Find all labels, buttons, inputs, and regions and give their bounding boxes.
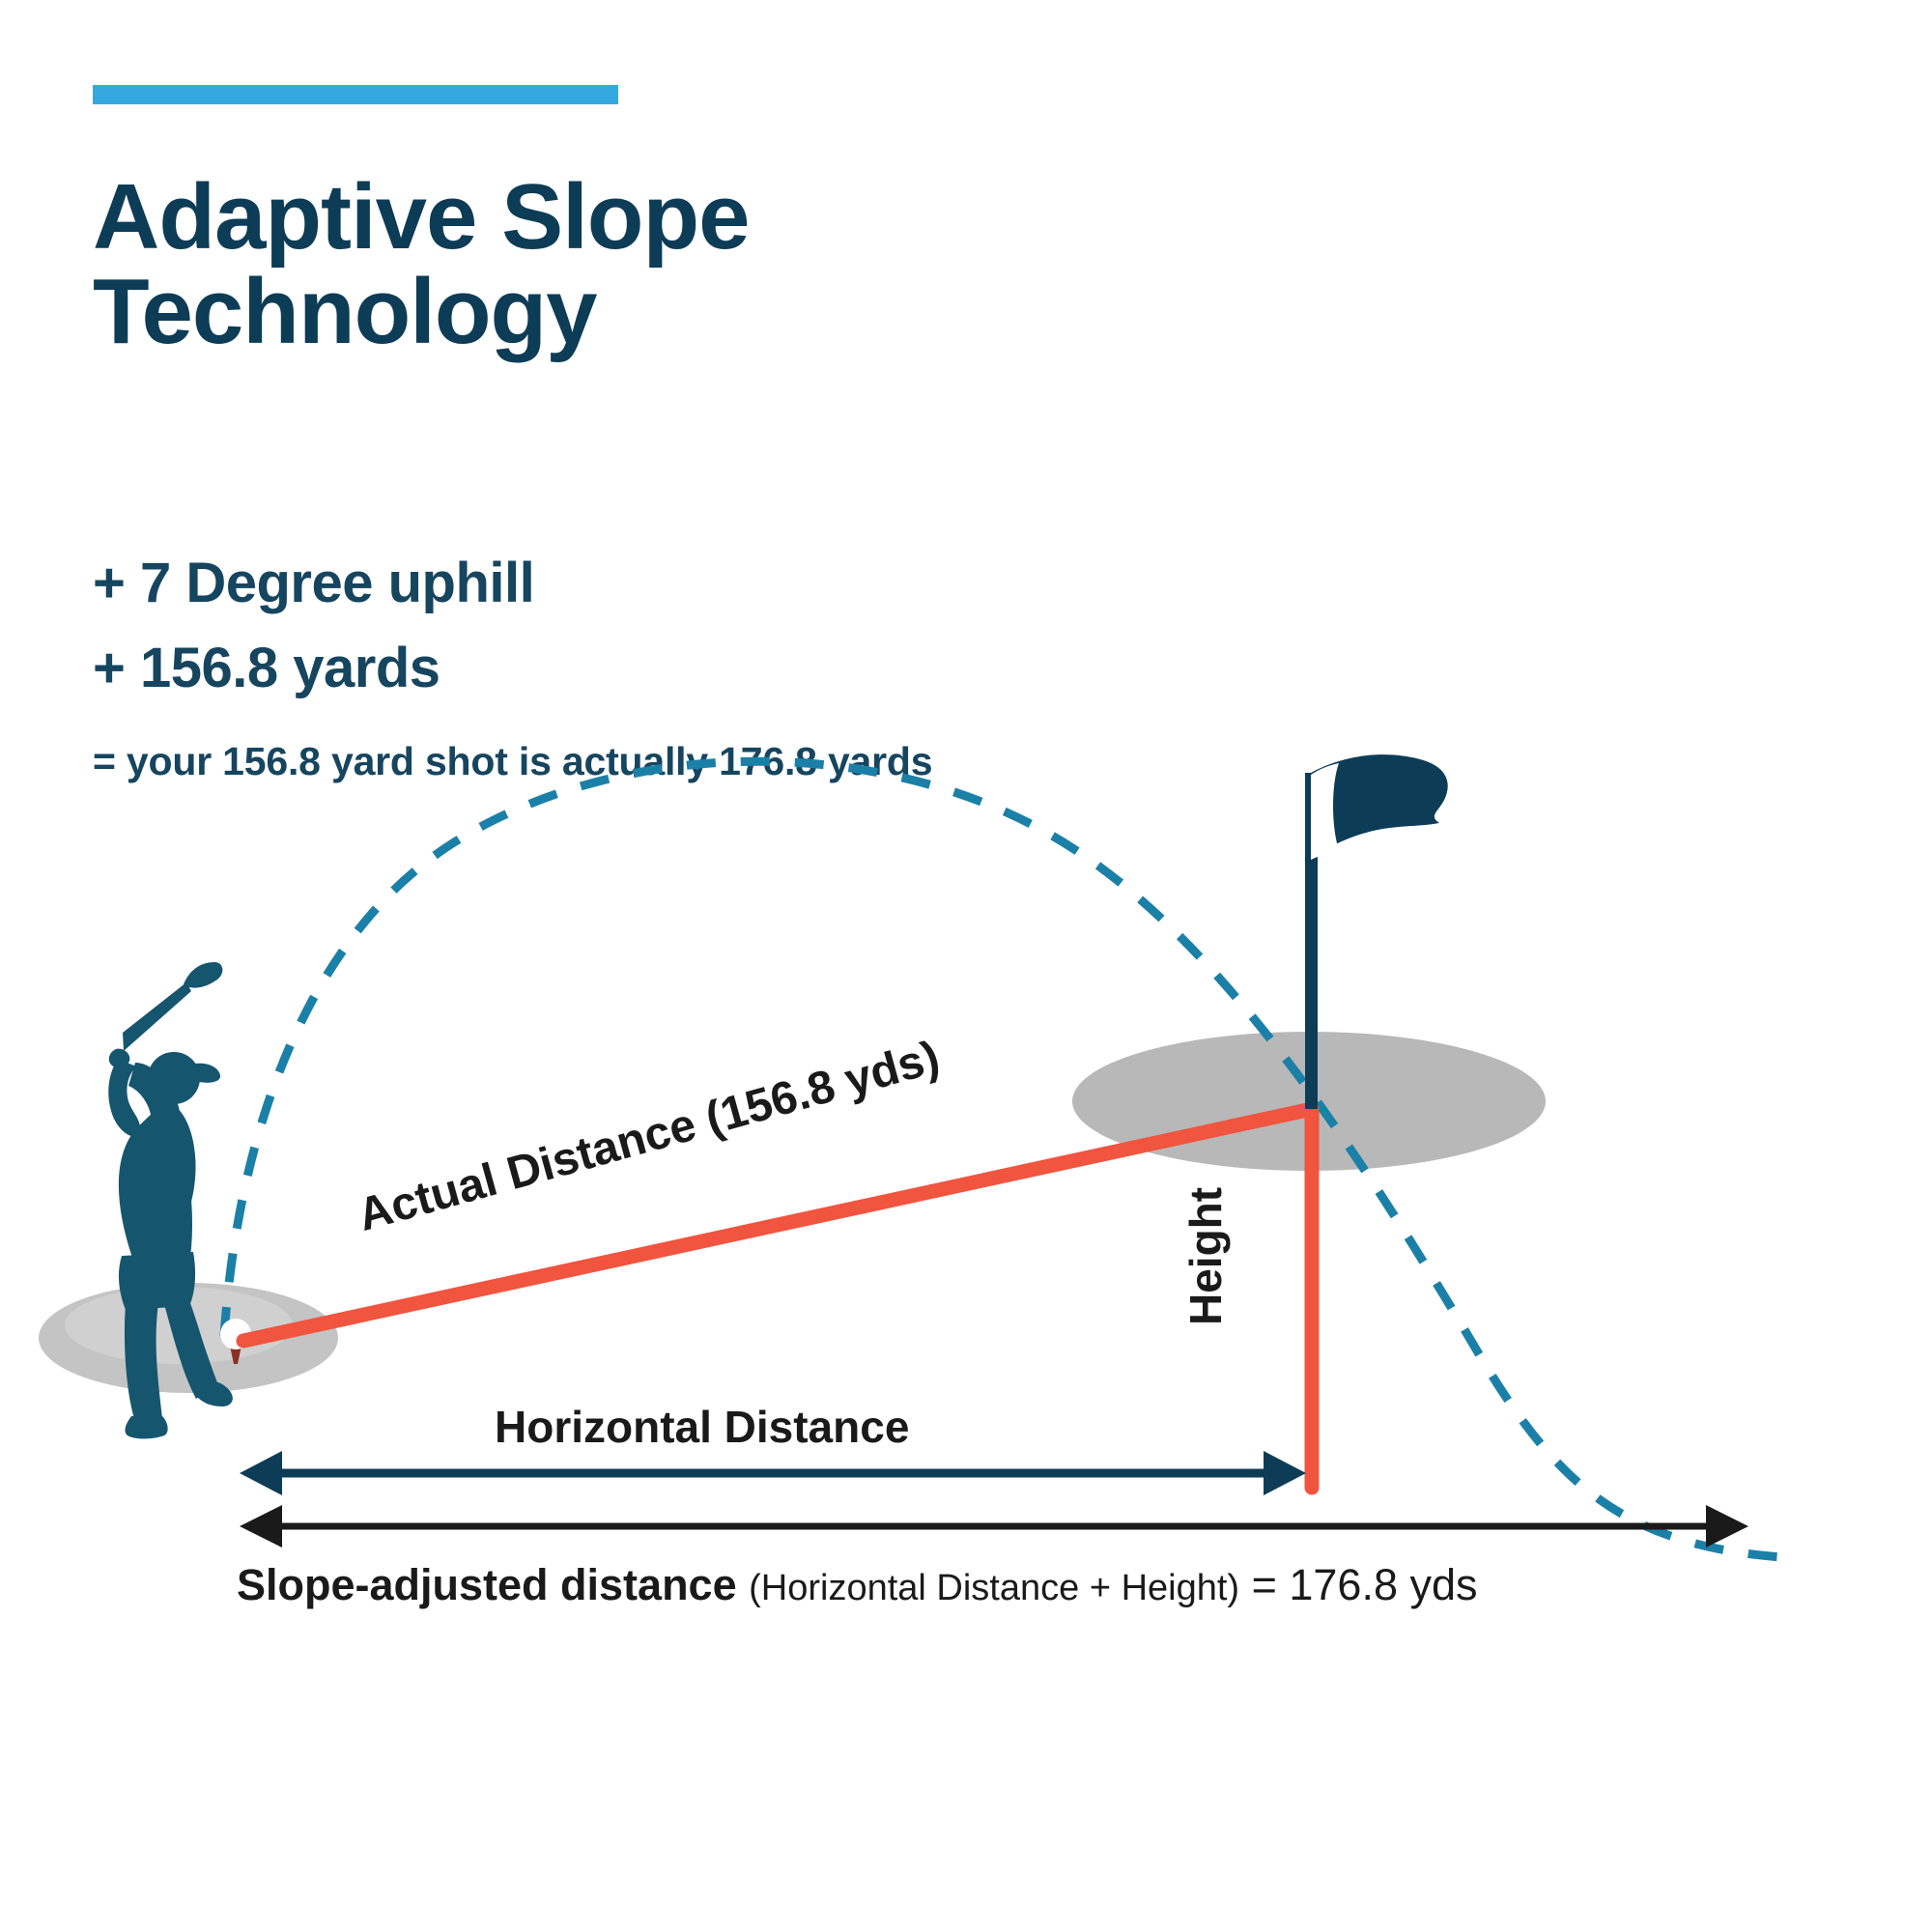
horizontal-distance-arrow — [240, 1451, 1306, 1495]
height-label: Height — [1179, 1187, 1232, 1325]
caption-result: = 176.8 yds — [1252, 1560, 1478, 1609]
bottom-caption: Slope-adjusted distance (Horizontal Dist… — [237, 1560, 1478, 1610]
caption-strong: Slope-adjusted distance — [237, 1560, 737, 1609]
caption-formula: (Horizontal Distance + Height) — [749, 1568, 1239, 1608]
infographic-canvas: Adaptive Slope Technology + 7 Degree uph… — [0, 0, 1932, 1932]
ball-flight-dashed-curve — [224, 761, 1782, 1557]
slope-adjusted-distance-arrow — [240, 1505, 1748, 1548]
horizontal-distance-label: Horizontal Distance — [495, 1401, 909, 1453]
slope-diagram — [0, 0, 1932, 1932]
